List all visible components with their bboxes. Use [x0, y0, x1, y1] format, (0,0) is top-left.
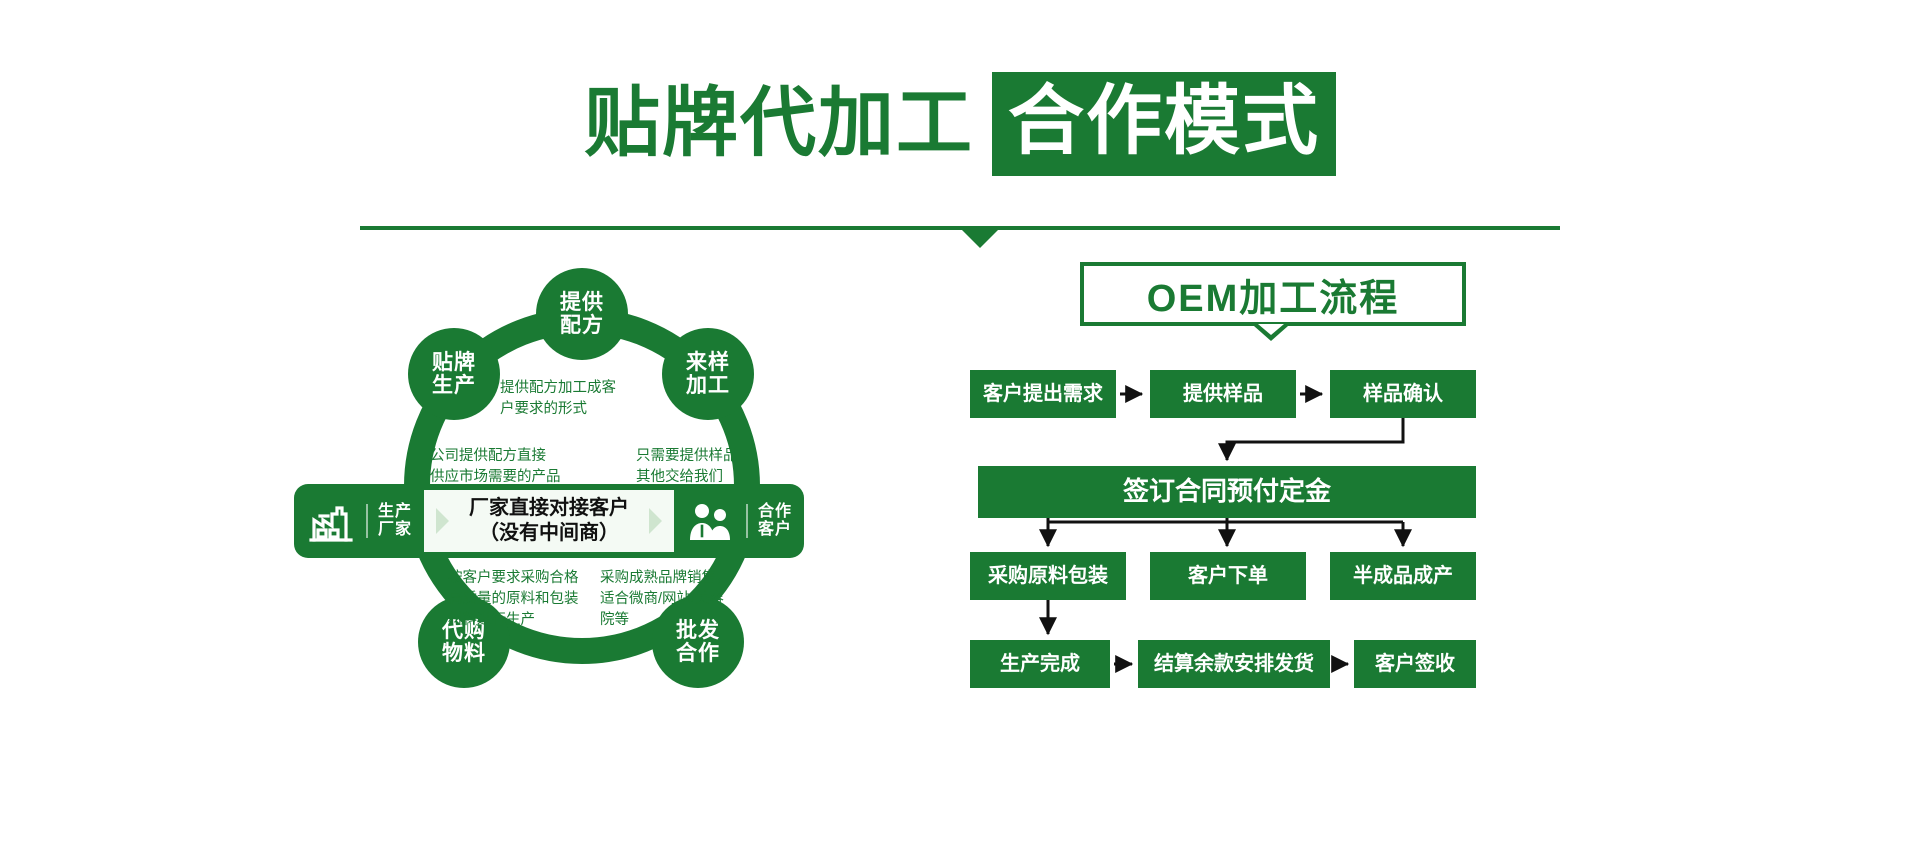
cycle-desc-provide-formula: 提供配方加工成客 户要求的形式: [500, 378, 616, 420]
flow-box-sign-contract-deposit[interactable]: 签订合同预付定金: [978, 466, 1476, 518]
cycle-desc-oem-production: 公司提供配方直接 供应市场需要的产品: [430, 446, 561, 488]
oem-flow-heading-text: OEM加工流程: [1147, 267, 1400, 322]
factory-icon: [306, 496, 356, 546]
flow-box-customer-request[interactable]: 客户提出需求: [970, 370, 1116, 418]
chevron-right-icon: [436, 508, 449, 534]
cycle-center-bar: 生产 厂家 厂家直接对接客户 （没有中间商）: [294, 484, 804, 558]
flow-box-settle-balance-ship[interactable]: 结算余款安排发货: [1138, 640, 1330, 688]
divider-line: [360, 226, 1560, 230]
oem-heading-caret-inner-icon: [1258, 324, 1284, 335]
center-bar-left-separator: [366, 504, 368, 538]
oem-flow-chart: OEM加工流程 客户提出需求: [970, 262, 1570, 682]
oem-flow-heading-box: OEM加工流程: [1080, 262, 1466, 326]
poster-canvas: 贴牌代加工 合作模式 提供 配方 贴牌 生产 来样 加工 代购 物料 批发 合作…: [0, 0, 1920, 857]
cycle-node-line1: 提供: [560, 291, 604, 314]
flow-box-production-complete[interactable]: 生产完成: [970, 640, 1110, 688]
center-bar-middle-panel: 厂家直接对接客户 （没有中间商）: [424, 490, 674, 552]
center-bar-middle-text: 厂家直接对接客户 （没有中间商）: [469, 496, 629, 546]
cycle-node-line1: 来样: [686, 351, 730, 374]
cycle-node-line2: 配方: [560, 314, 604, 337]
flow-box-provide-sample[interactable]: 提供样品: [1150, 370, 1296, 418]
divider-caret-icon: [962, 230, 998, 248]
flow-box-sample-confirm[interactable]: 样品确认: [1330, 370, 1476, 418]
flow-box-customer-receipt[interactable]: 客户签收: [1354, 640, 1476, 688]
center-bar-left-label: 生产 厂家: [378, 503, 412, 540]
center-bar-left-group: 生产 厂家: [294, 484, 424, 558]
chevron-right-icon: [649, 508, 662, 534]
cycle-node-line2: 加工: [686, 374, 730, 397]
center-bar-right-label: 合作 客户: [758, 503, 792, 540]
cycle-desc-wholesale-cooperation: 采购成熟品牌销售， 适合微商/网站/美容 院等: [600, 568, 731, 631]
customers-icon: [686, 496, 736, 546]
cycle-desc-sample-processing: 只需要提供样品 其他交给我们: [636, 446, 738, 488]
flow-box-customer-order[interactable]: 客户下单: [1150, 552, 1306, 600]
cycle-node-line2: 生产: [432, 374, 476, 397]
cycle-node-oem-production[interactable]: 贴牌 生产: [408, 328, 500, 420]
cycle-desc-purchase-materials: 按客户要求采购合格 高质量的原料和包装 材料进行生产: [448, 568, 579, 631]
center-bar-right-separator: [746, 504, 748, 538]
cycle-node-provide-formula[interactable]: 提供 配方: [536, 268, 628, 360]
cycle-node-line1: 贴牌: [432, 351, 476, 374]
cycle-node-line2: 物料: [442, 642, 486, 665]
page-title-plain: 贴牌代加工: [584, 86, 974, 162]
cycle-node-line2: 合作: [676, 642, 720, 665]
flow-box-purchase-material-packaging[interactable]: 采购原料包装: [970, 552, 1126, 600]
center-bar-right-group: 合作 客户: [674, 484, 804, 558]
page-title-boxed: 合作模式: [992, 72, 1336, 176]
page-title: 贴牌代加工 合作模式: [0, 72, 1920, 176]
cycle-diagram: 提供 配方 贴牌 生产 来样 加工 代购 物料 批发 合作 提供配方加工成客 户…: [352, 286, 812, 746]
cycle-node-sample-processing[interactable]: 来样 加工: [662, 328, 754, 420]
flow-box-semi-finished[interactable]: 半成品成产: [1330, 552, 1476, 600]
